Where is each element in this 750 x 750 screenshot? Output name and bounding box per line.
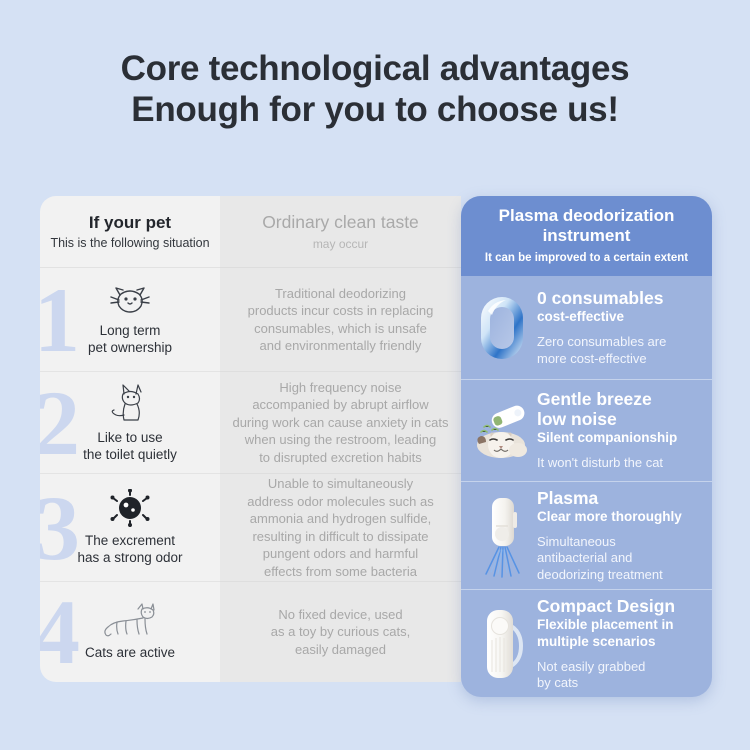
plasma-title: 0 consumables <box>537 288 704 308</box>
comparison-table: If your pet This is the following situat… <box>40 196 712 700</box>
plasma-subtitle: Silent companionship <box>537 429 704 446</box>
column-ordinary: Ordinary clean taste may occur Tradition… <box>220 196 461 682</box>
cat-face-icon <box>107 283 153 317</box>
table-row: 4 Cats are active <box>40 582 220 682</box>
row-number-watermark: 3 <box>40 482 80 574</box>
sleeping-cat-device-icon <box>467 400 537 462</box>
header-situation-sub: This is the following situation <box>50 235 209 252</box>
row-number-watermark: 2 <box>40 377 80 469</box>
table-row: Traditional deodorizing products incur c… <box>220 268 461 372</box>
situation-label: Like to use the toilet quietly <box>83 429 177 463</box>
table-row: Plasma Clear more thoroughly Simultaneou… <box>461 482 712 590</box>
ordinary-text: No fixed device, used as a toy by curiou… <box>271 606 410 659</box>
plasma-note: Not easily grabbed by cats <box>537 659 704 692</box>
table-row: Gentle breeze low noise Silent companion… <box>461 380 712 482</box>
table-row: 3 The excrement has a strong <box>40 474 220 582</box>
table-row: No fixed device, used as a toy by curiou… <box>220 582 461 682</box>
plasma-note: Zero consumables are more cost-effective <box>537 334 704 367</box>
header-ordinary-main: Ordinary clean taste <box>262 211 419 233</box>
glossy-zero-icon <box>467 293 537 363</box>
row-number-watermark: 4 <box>40 586 80 678</box>
column-situation: If your pet This is the following situat… <box>40 196 220 682</box>
ordinary-text: High frequency noise accompanied by abru… <box>232 379 448 467</box>
situation-label: The excrement has a strong odor <box>77 532 182 566</box>
device-spray-icon <box>467 492 537 580</box>
plasma-note: It won't disturb the cat <box>537 455 704 472</box>
column-plasma: Plasma deodorization instrument It can b… <box>461 196 712 697</box>
plasma-text-block: 0 consumables cost-effective Zero consum… <box>537 288 704 367</box>
plasma-subtitle: cost-effective <box>537 308 704 325</box>
plasma-note: Simultaneous antibacterial and deodorizi… <box>537 534 704 584</box>
header-plasma: Plasma deodorization instrument It can b… <box>461 196 712 276</box>
table-row: Unable to simultaneously address odor mo… <box>220 474 461 582</box>
plasma-title: Plasma <box>537 488 704 508</box>
table-row: 2 Like to use the toilet quietly <box>40 372 220 474</box>
header-ordinary-sub: may occur <box>313 236 368 253</box>
ordinary-text: Unable to simultaneously address odor mo… <box>247 475 433 580</box>
plasma-text-block: Compact Design Flexible placement in mul… <box>537 596 704 692</box>
title-line-2: Enough for you to choose us! <box>0 89 750 130</box>
situation-label: Cats are active <box>85 644 175 661</box>
plasma-text-block: Plasma Clear more thoroughly Simultaneou… <box>537 488 704 584</box>
table-row: Compact Design Flexible placement in mul… <box>461 590 712 697</box>
table-row: High frequency noise accompanied by abru… <box>220 372 461 474</box>
title-line-1: Core technological advantages <box>0 48 750 89</box>
compact-device-icon <box>467 602 537 686</box>
walking-cat-icon <box>99 603 161 639</box>
header-situation-main: If your pet <box>89 212 171 233</box>
header-ordinary: Ordinary clean taste may occur <box>220 196 461 268</box>
page-title: Core technological advantages Enough for… <box>0 48 750 130</box>
plasma-title: Gentle breeze low noise <box>537 389 704 429</box>
row-number-watermark: 1 <box>40 274 80 366</box>
plasma-subtitle: Flexible placement in multiple scenarios <box>537 616 704 650</box>
ordinary-text: Traditional deodorizing products incur c… <box>248 285 434 355</box>
header-situation: If your pet This is the following situat… <box>40 196 220 268</box>
plasma-title: Compact Design <box>537 596 704 616</box>
plasma-text-block: Gentle breeze low noise Silent companion… <box>537 389 704 472</box>
header-plasma-main: Plasma deodorization instrument <box>467 206 706 246</box>
table-row: 1 Long term pet ownership <box>40 268 220 372</box>
bacteria-icon <box>110 489 150 527</box>
situation-label: Long term pet ownership <box>88 322 172 356</box>
table-row: 0 consumables cost-effective Zero consum… <box>461 276 712 380</box>
plasma-subtitle: Clear more thoroughly <box>537 508 704 525</box>
sitting-cat-icon <box>108 382 152 424</box>
header-plasma-sub: It can be improved to a certain extent <box>485 250 688 266</box>
